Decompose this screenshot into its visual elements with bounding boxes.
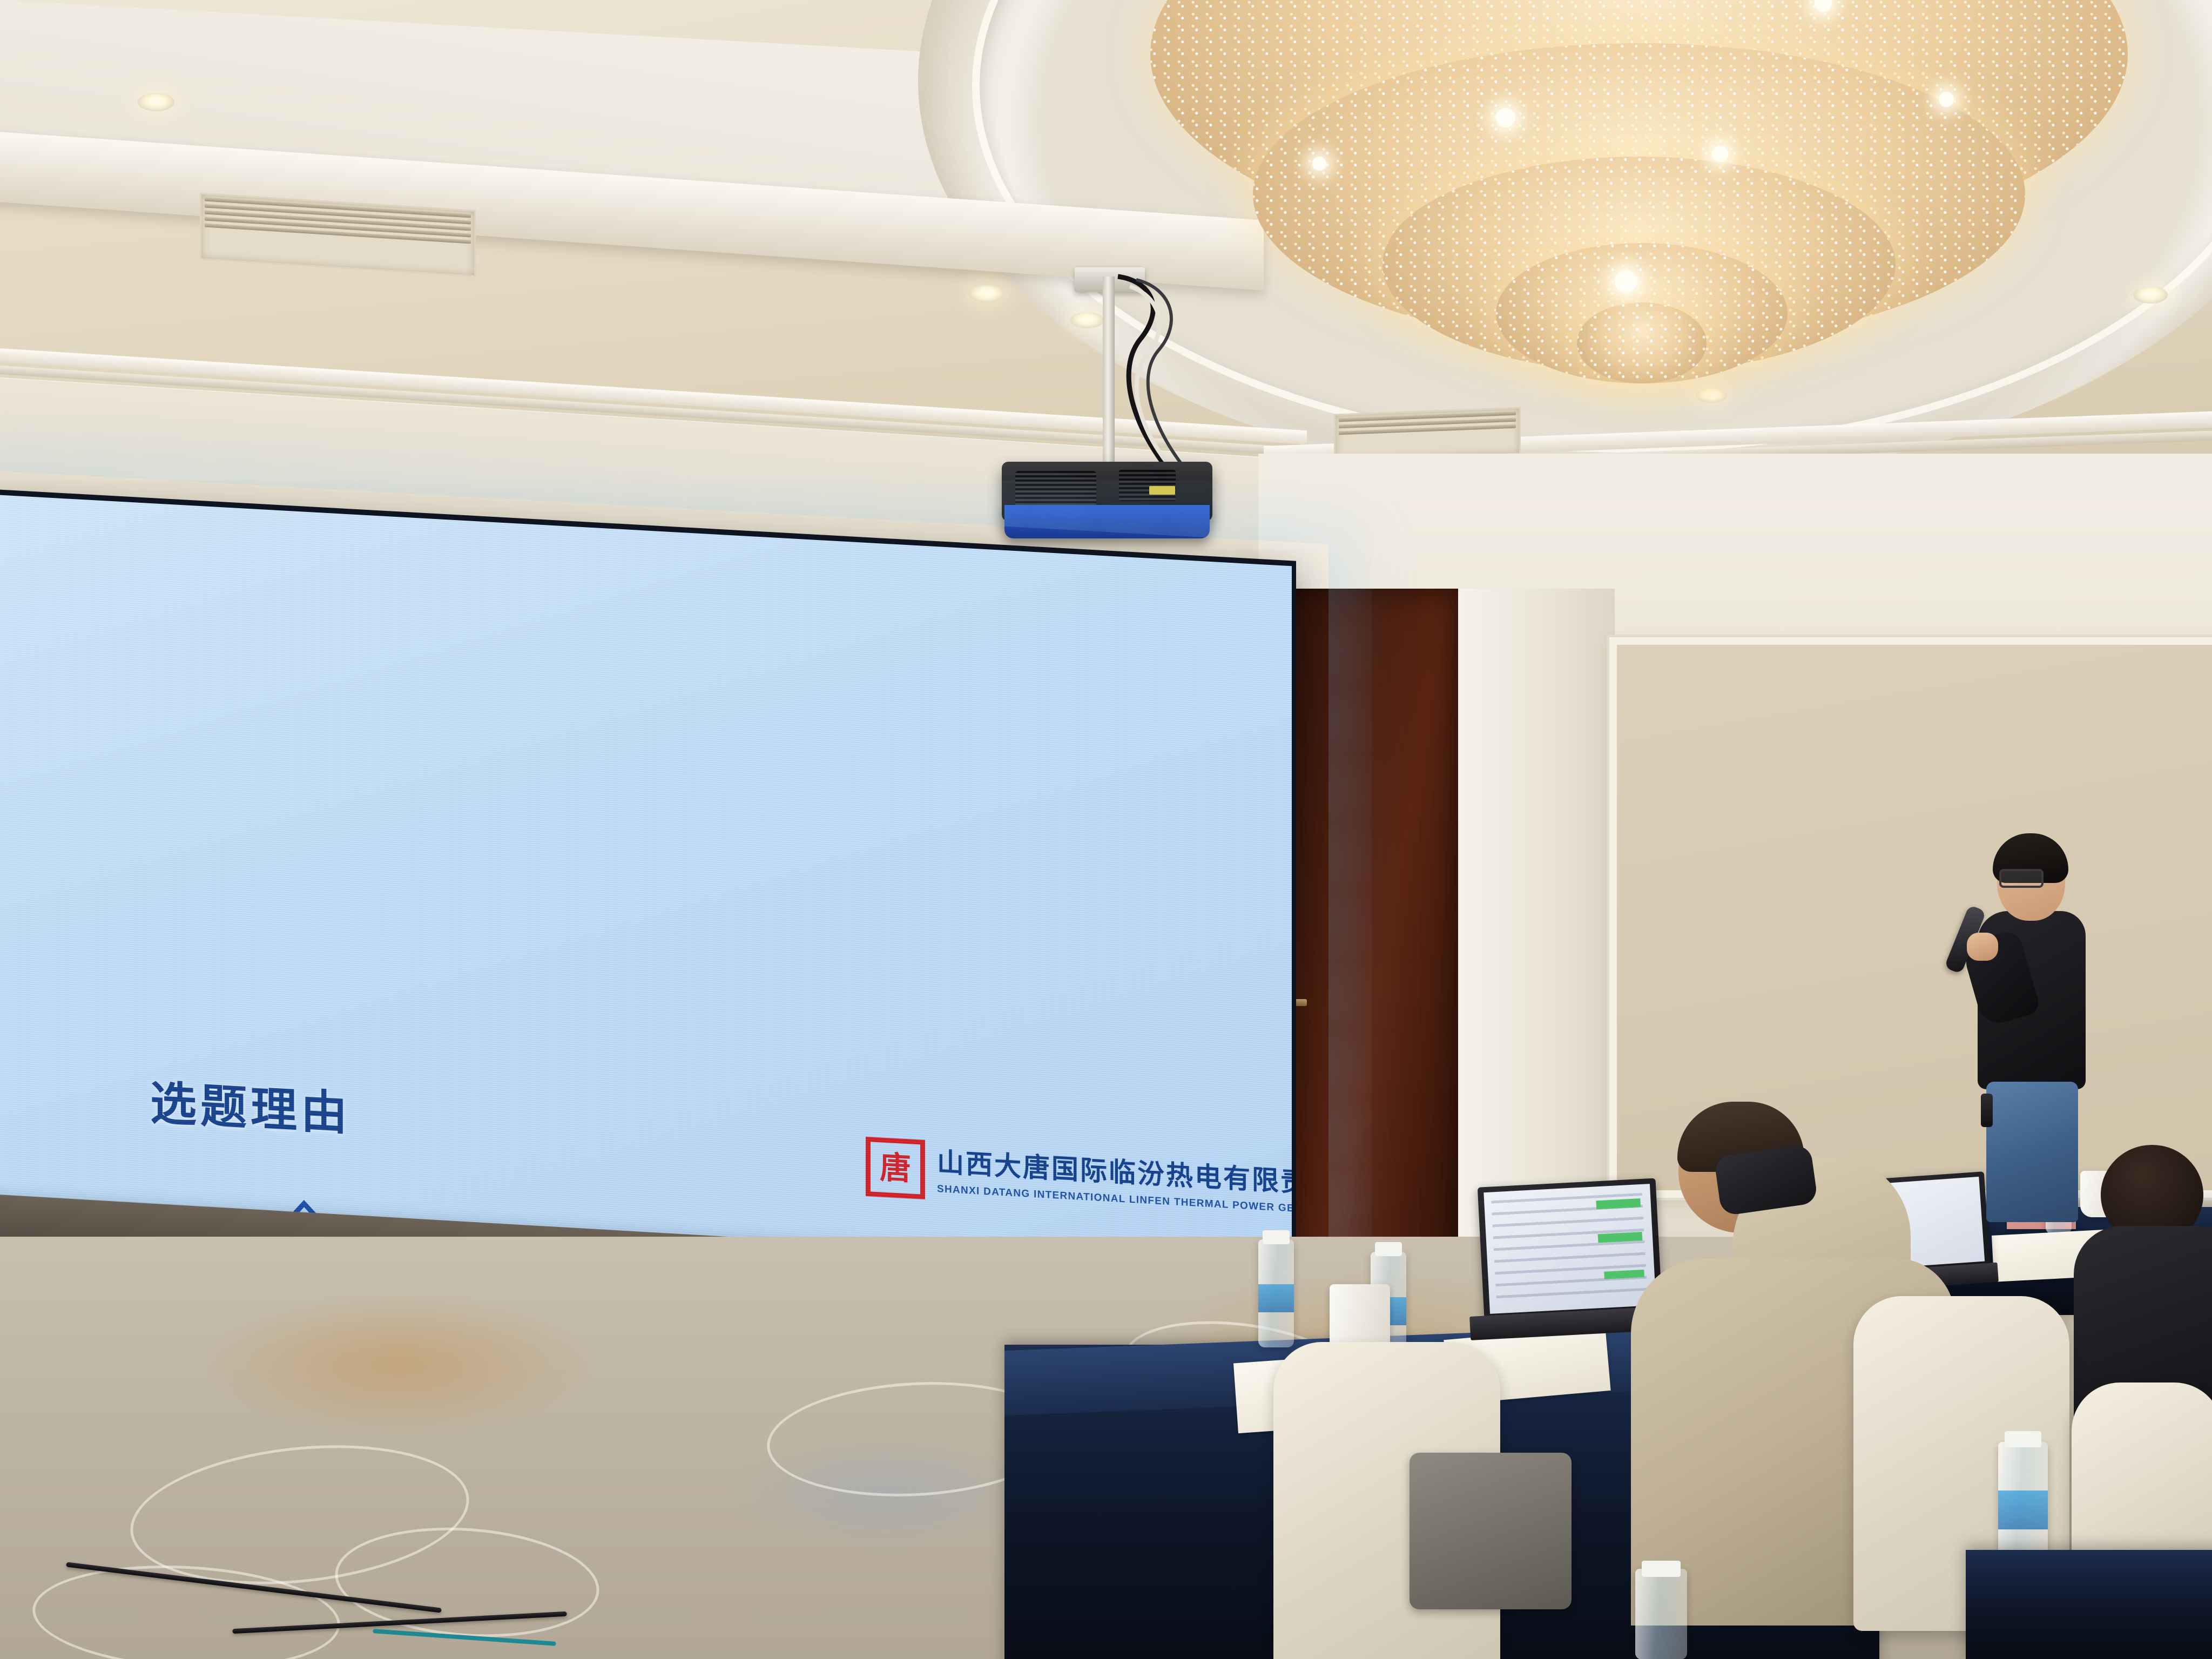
projector-vent-grille-right [1119,470,1176,501]
tang-logo-icon: 唐 [866,1137,925,1199]
projector-cables [1102,270,1226,486]
bottle-cap-4 [2005,1431,2041,1447]
chandelier-tier-5 [1577,302,1707,383]
slide-surface: 选题理由 唐 山西大唐国际临汾热电有限责任公司 SHANXI DATANG IN… [0,494,1292,1300]
slide-title: 选题理由 [150,1065,351,1143]
bottle-cap-1 [1263,1230,1290,1244]
chandelier-sparkle-8 [1939,92,1954,107]
bottle-cap-3 [1642,1561,1681,1577]
company-logo: 唐 山西大唐国际临汾热电有限责任公司 SHANXI DATANG INTERNA… [866,1137,1292,1226]
ceiling-downlight-2 [969,285,1004,302]
bottle-cap-2 [1375,1242,1402,1256]
projector-vent-grille-left [1015,471,1096,508]
projector-warning-label [1149,486,1175,495]
chandelier-sparkle-5 [1712,146,1728,162]
ceiling-downlight-1 [138,93,174,111]
presenter-remote-clicker[interactable] [1981,1094,1993,1127]
led-video-wall[interactable]: 选题理由 唐 山西大唐国际临汾热电有限责任公司 SHANXI DATANG IN… [0,489,1296,1312]
ceiling-downlight-3 [1070,312,1104,328]
projector-body-lower [1004,505,1210,538]
bottle-label-1 [1258,1284,1294,1312]
attendee-table-far-right [1966,1550,2212,1659]
crystal-chandelier [1150,0,2128,405]
water-bottle-3 [1635,1569,1687,1659]
chandelier-sparkle-6 [1615,270,1637,293]
ceiling-downlight-6 [2133,286,2168,304]
handbag [1410,1453,1572,1609]
bottle-label-4 [1998,1491,2048,1529]
wall-column [1458,589,1615,1269]
chandelier-sparkle-7 [1312,157,1326,171]
conference-room-photo: 选题理由 唐 山西大唐国际临汾热电有限责任公司 SHANXI DATANG IN… [0,0,2212,1659]
eyeglasses-icon [1999,869,2044,888]
presenter [1966,840,2090,1218]
presenter-jeans [1986,1082,2078,1222]
wooden-door[interactable] [1269,589,1458,1280]
chandelier-sparkle-4 [1496,108,1515,127]
presenter-hand [1967,933,1998,961]
